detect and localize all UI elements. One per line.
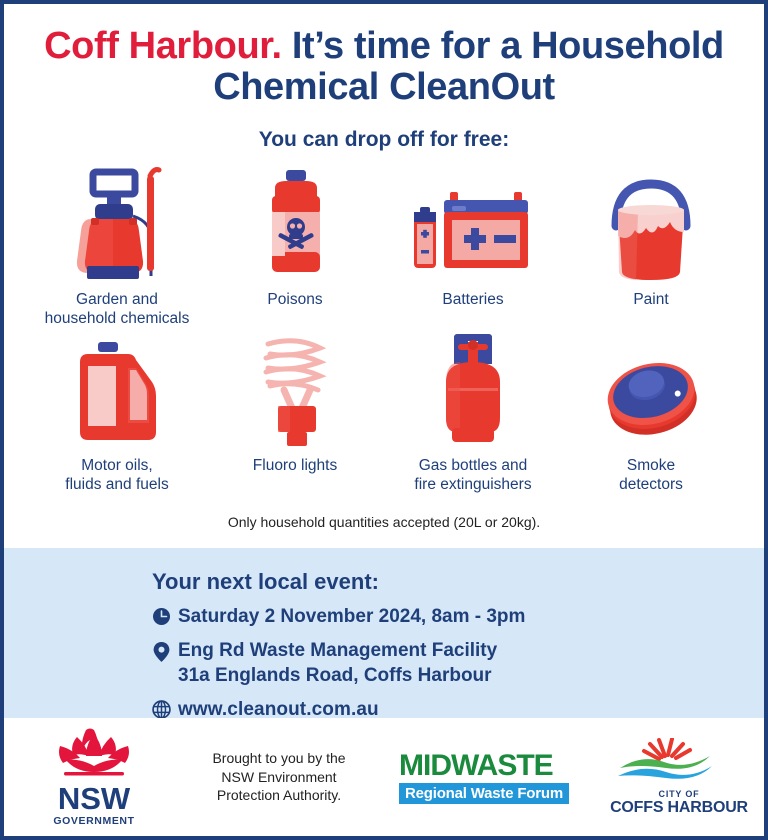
footer: NSW GOVERNMENT Brought to you by the NSW… xyxy=(4,718,764,836)
item-label: Gas bottles and fire extinguishers xyxy=(414,457,531,494)
poison-bottle-icon xyxy=(253,166,338,284)
item-label: Smoke detectors xyxy=(619,457,683,494)
garden-sprayer-icon xyxy=(65,166,170,284)
event-location: Eng Rd Waste Management Facility 31a Eng… xyxy=(178,639,497,688)
car-battery-icon xyxy=(406,166,541,284)
quantity-disclaimer: Only household quantities accepted (20L … xyxy=(4,514,764,530)
gas-bottle-icon xyxy=(418,332,528,450)
midwaste-logo-text: MIDWASTE xyxy=(399,751,569,781)
event-date-row: Saturday 2 November 2024, 8am - 3pm xyxy=(152,605,734,630)
clock-icon xyxy=(152,605,178,626)
headline-red-part: Coff Harbour. xyxy=(44,25,282,67)
event-date: Saturday 2 November 2024, 8am - 3pm xyxy=(178,605,525,630)
subheading: You can drop off for free: xyxy=(4,128,764,152)
nsw-logo-subtext: GOVERNMENT xyxy=(46,815,142,827)
item-label: Batteries xyxy=(442,291,503,310)
page-title: Coff Harbour. It’s time for a Household … xyxy=(4,4,764,108)
item-batteries: Batteries xyxy=(384,166,562,328)
oil-jug-icon xyxy=(62,332,172,450)
fluoro-bulb-icon xyxy=(240,332,350,450)
item-fluoro-lights: Fluoro lights xyxy=(206,332,384,494)
event-location-row: Eng Rd Waste Management Facility 31a Eng… xyxy=(152,639,734,688)
nsw-logo-text: NSW xyxy=(46,783,142,814)
headline-blue-part: It’s time for a Household Chemical Clean… xyxy=(213,25,724,108)
nsw-government-logo: NSW GOVERNMENT xyxy=(4,728,184,827)
item-motor-oils: Motor oils, fluids and fuels xyxy=(28,332,206,494)
item-smoke-detectors: Smoke detectors xyxy=(562,332,740,494)
item-gas-bottles: Gas bottles and fire extinguishers xyxy=(384,332,562,494)
item-label: Garden and household chemicals xyxy=(45,291,190,328)
event-panel-title: Your next local event: xyxy=(152,569,734,595)
coffs-logo-text: COFFS HARBOUR xyxy=(610,799,748,817)
item-label: Paint xyxy=(633,291,668,310)
paint-bucket-icon xyxy=(596,166,706,284)
coffs-sun-waves-icon xyxy=(610,738,720,784)
poster-root: Coff Harbour. It’s time for a Household … xyxy=(0,0,768,840)
smoke-detector-icon xyxy=(596,332,706,450)
midwaste-logo: MIDWASTE Regional Waste Forum xyxy=(374,751,594,804)
item-label: Fluoro lights xyxy=(253,457,337,476)
item-label: Poisons xyxy=(267,291,322,310)
item-paint: Paint xyxy=(562,166,740,328)
item-label: Motor oils, fluids and fuels xyxy=(65,457,168,494)
coffs-logo-small-text: CITY OF xyxy=(610,789,748,799)
accepted-items-grid: Garden and household chemicals xyxy=(4,152,764,494)
map-pin-icon xyxy=(152,639,178,663)
globe-icon xyxy=(152,698,178,719)
footer-credit-text: Brought to you by the NSW Environment Pr… xyxy=(184,749,374,806)
item-garden-chemicals: Garden and household chemicals xyxy=(28,166,206,328)
midwaste-logo-subtext: Regional Waste Forum xyxy=(399,783,569,804)
coffs-harbour-logo: CITY OF COFFS HARBOUR xyxy=(594,738,764,817)
item-poisons: Poisons xyxy=(206,166,384,328)
waratah-icon xyxy=(46,728,142,778)
